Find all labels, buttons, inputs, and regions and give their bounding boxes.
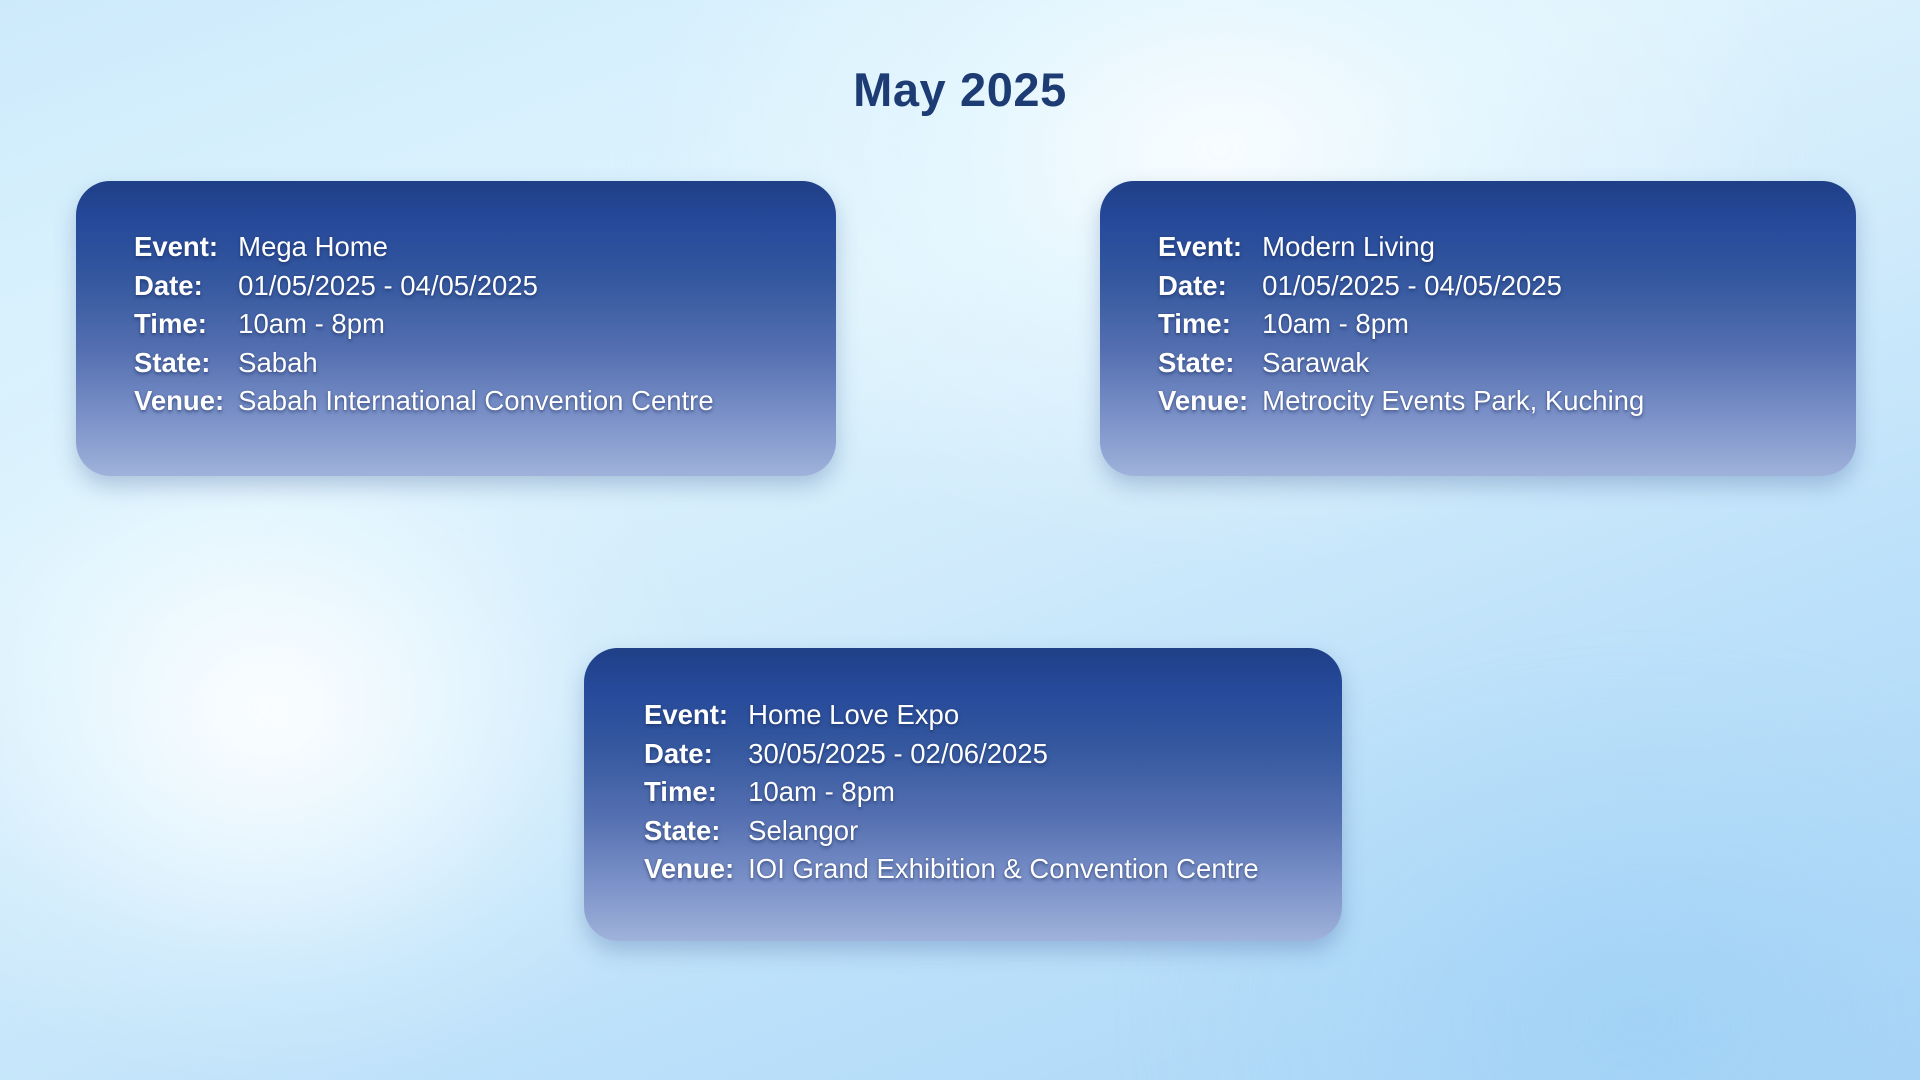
label-venue: Venue: <box>644 850 734 889</box>
value-date: 01/05/2025 - 04/05/2025 <box>238 267 804 306</box>
label-state: State: <box>1158 344 1248 383</box>
value-state: Sabah <box>238 344 804 383</box>
event-detail-list: Event: Mega Home Date: 01/05/2025 - 04/0… <box>134 228 804 421</box>
label-event: Event: <box>644 696 734 735</box>
value-time: 10am - 8pm <box>1262 305 1828 344</box>
value-event: Mega Home <box>238 228 804 267</box>
page-title: May 2025 <box>0 62 1920 117</box>
label-venue: Venue: <box>1158 382 1248 421</box>
label-time: Time: <box>644 773 734 812</box>
event-detail-list: Event: Modern Living Date: 01/05/2025 - … <box>1158 228 1828 421</box>
label-date: Date: <box>134 267 224 306</box>
value-time: 10am - 8pm <box>748 773 1314 812</box>
value-event: Modern Living <box>1262 228 1828 267</box>
value-state: Sarawak <box>1262 344 1828 383</box>
label-state: State: <box>134 344 224 383</box>
value-date: 01/05/2025 - 04/05/2025 <box>1262 267 1828 306</box>
label-date: Date: <box>1158 267 1248 306</box>
value-time: 10am - 8pm <box>238 305 804 344</box>
event-card-mega-home[interactable]: Event: Mega Home Date: 01/05/2025 - 04/0… <box>76 181 836 476</box>
label-venue: Venue: <box>134 382 224 421</box>
event-detail-list: Event: Home Love Expo Date: 30/05/2025 -… <box>644 696 1314 889</box>
label-date: Date: <box>644 735 734 774</box>
value-state: Selangor <box>748 812 1314 851</box>
event-card-home-love-expo[interactable]: Event: Home Love Expo Date: 30/05/2025 -… <box>584 648 1342 941</box>
value-venue: IOI Grand Exhibition & Convention Centre <box>748 850 1314 889</box>
label-event: Event: <box>1158 228 1248 267</box>
label-state: State: <box>644 812 734 851</box>
label-time: Time: <box>1158 305 1248 344</box>
event-card-modern-living[interactable]: Event: Modern Living Date: 01/05/2025 - … <box>1100 181 1856 476</box>
value-venue: Metrocity Events Park, Kuching <box>1262 382 1828 421</box>
value-event: Home Love Expo <box>748 696 1314 735</box>
label-time: Time: <box>134 305 224 344</box>
value-venue: Sabah International Convention Centre <box>238 382 804 421</box>
label-event: Event: <box>134 228 224 267</box>
value-date: 30/05/2025 - 02/06/2025 <box>748 735 1314 774</box>
